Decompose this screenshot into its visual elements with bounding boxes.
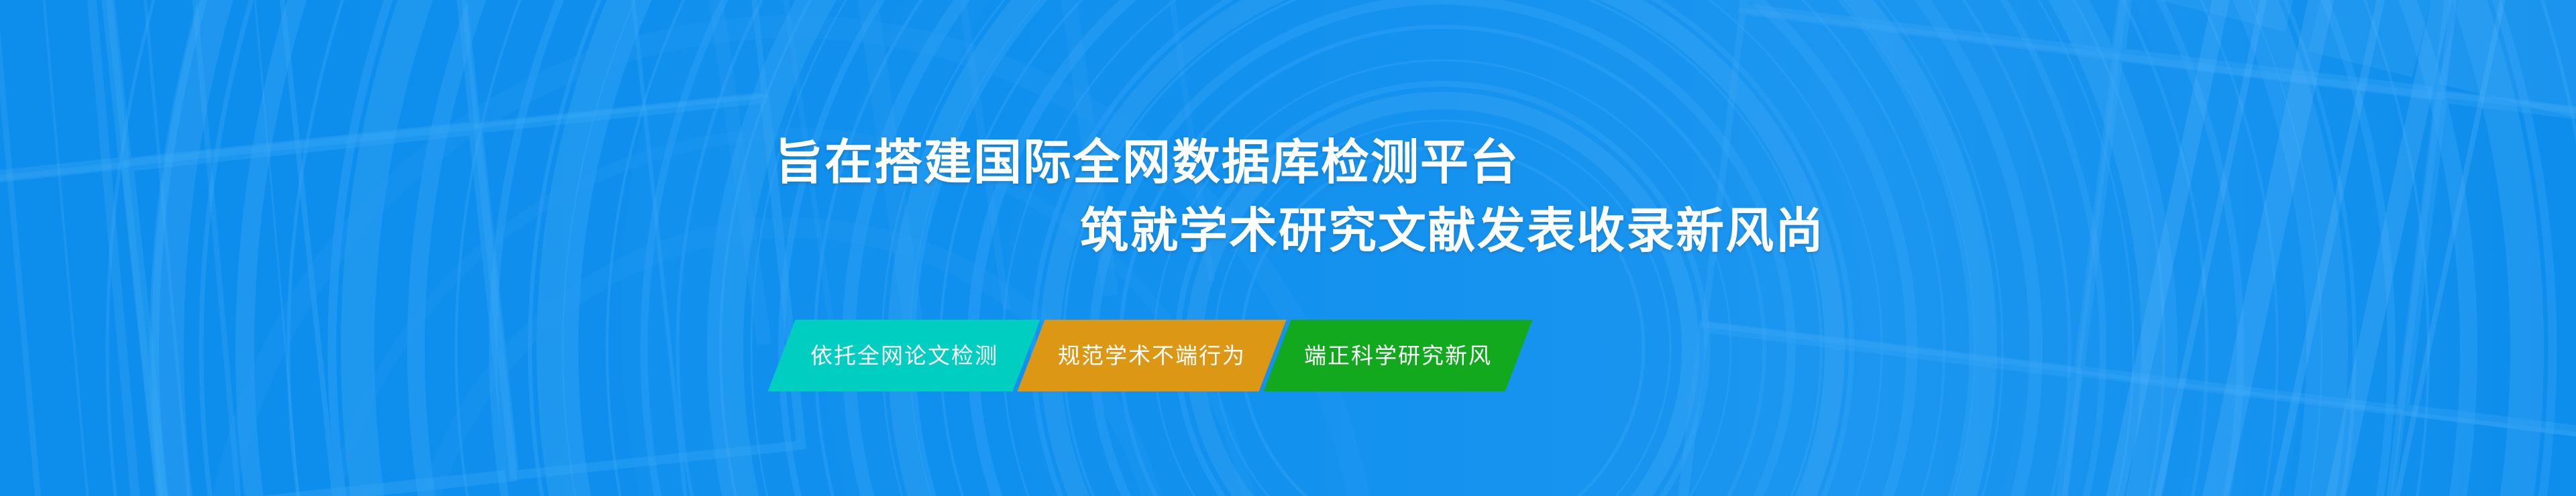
background-decoration [0,0,2576,496]
feature-tag-paper-detection[interactable]: 依托全网论文检测 [767,320,1040,391]
feature-tag-strip: 依托全网论文检测 规范学术不端行为 端正科学研究新风 [782,320,1519,391]
feature-tag-label: 端正科学研究新风 [1304,345,1492,367]
feature-tag-research-ethos[interactable]: 端正科学研究新风 [1263,320,1532,391]
feature-tag-academic-misconduct[interactable]: 规范学术不端行为 [1017,320,1286,391]
feature-tag-label: 依托全网论文检测 [810,345,998,367]
hero-banner: 旨在搭建国际全网数据库检测平台 筑就学术研究文献发表收录新风尚 依托全网论文检测… [0,0,2576,496]
feature-tag-label: 规范学术不端行为 [1058,345,1246,367]
